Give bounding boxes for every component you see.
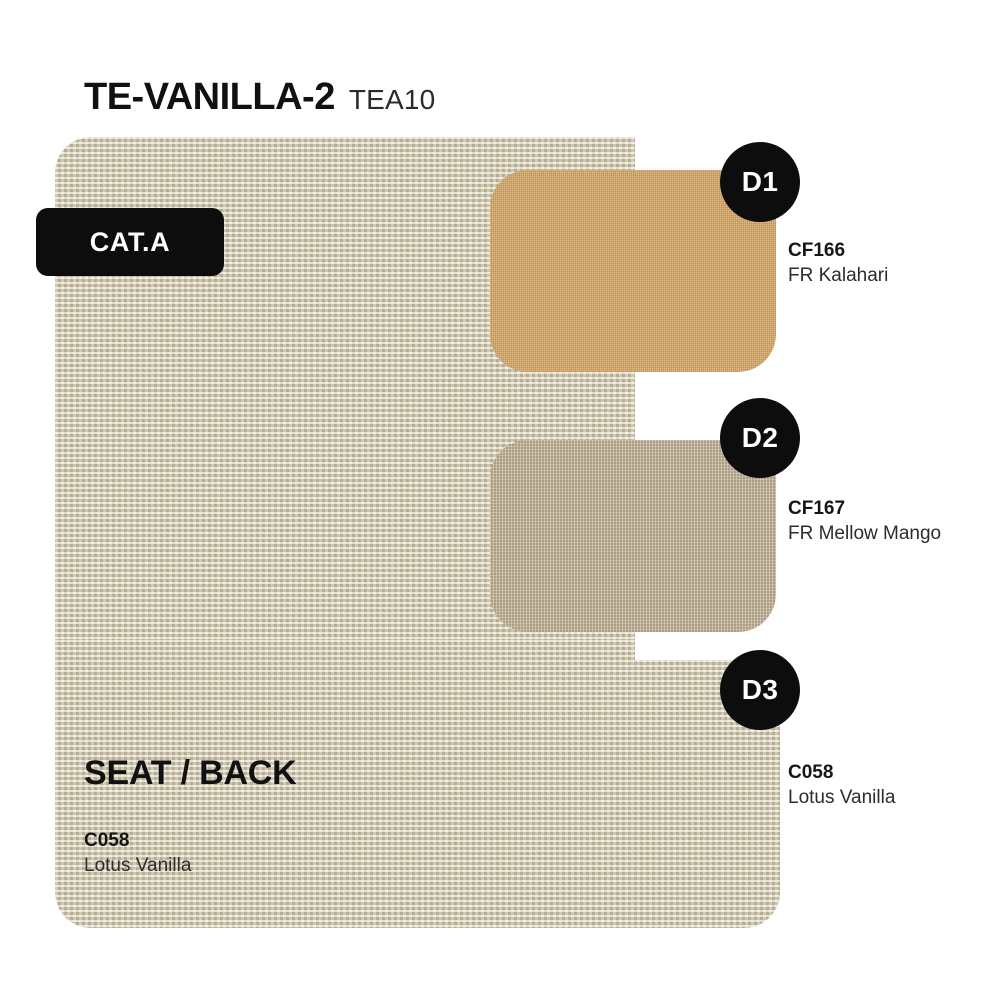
swatch-caption-d1: CF166 FR Kalahari xyxy=(788,238,988,288)
swatch-caption-d3: C058 Lotus Vanilla xyxy=(788,760,988,810)
swatch-board: TE-VANILLA-2 TEA10 CAT.A D1 D2 D3 CF166 … xyxy=(0,0,1000,1000)
swatch-code-d2: CF167 xyxy=(788,496,988,521)
main-panel-part-label: SEAT / BACK xyxy=(84,756,297,790)
page-title: TE-VANILLA-2 TEA10 xyxy=(84,78,435,116)
fabric-swatch-d2-cf167[interactable] xyxy=(490,440,776,632)
swatch-code-d3: C058 xyxy=(788,760,988,785)
marker-badge-d2: D2 xyxy=(720,398,800,478)
title-model-name: TE-VANILLA-2 xyxy=(84,78,335,116)
swatch-name-d3: Lotus Vanilla xyxy=(788,785,988,810)
category-badge-label: CAT.A xyxy=(90,227,171,258)
swatch-caption-d2: CF167 FR Mellow Mango xyxy=(788,496,988,546)
marker-badge-d1: D1 xyxy=(720,142,800,222)
main-panel-code: C058 xyxy=(84,828,297,853)
swatch-code-d1: CF166 xyxy=(788,238,988,263)
main-panel-name: Lotus Vanilla xyxy=(84,853,297,878)
main-panel-caption: SEAT / BACK C058 Lotus Vanilla xyxy=(84,756,297,878)
title-model-code: TEA10 xyxy=(349,86,436,114)
swatch-name-d1: FR Kalahari xyxy=(788,263,988,288)
category-badge: CAT.A xyxy=(36,208,224,276)
marker-badge-d3: D3 xyxy=(720,650,800,730)
swatch-name-d2: FR Mellow Mango xyxy=(788,521,988,546)
